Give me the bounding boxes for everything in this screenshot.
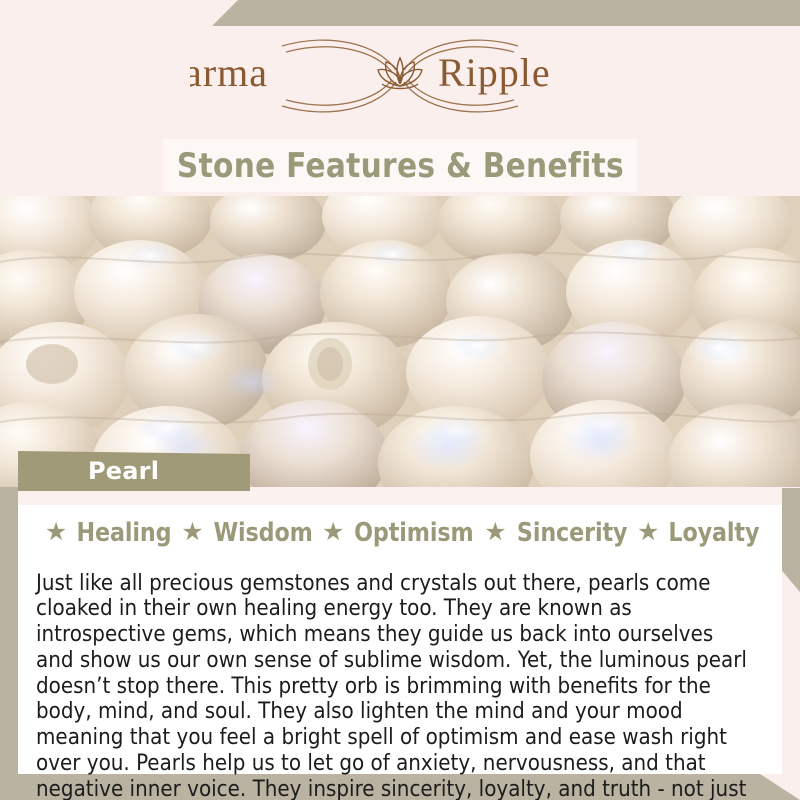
keyword-label: Wisdom xyxy=(213,518,312,548)
logo-word-karma: Karma xyxy=(190,50,268,95)
keyword-label: Optimism xyxy=(355,518,474,548)
star-icon: ★ xyxy=(45,520,67,545)
keyword-item-sincerity: ★ Sincerity xyxy=(477,518,630,548)
keyword-list: ★ Healing ★ Wisdom ★ Optimism ★ Sincerit… xyxy=(18,518,782,548)
keyword-item-loyalty: ★ Loyalty xyxy=(630,518,762,548)
corner-accent-top xyxy=(212,0,800,26)
keyword-label: Sincerity xyxy=(517,518,628,548)
pearl-photo xyxy=(0,196,800,487)
keyword-item-optimism: ★ Optimism xyxy=(315,518,477,548)
keyword-label: Loyalty xyxy=(669,518,760,548)
stone-info-card: Karma Ripple Stone Features & Benefits xyxy=(0,0,800,800)
logo-word-ripple: Ripple xyxy=(438,50,551,95)
stone-name-label: Pearl xyxy=(18,451,250,491)
pearl-photo-svg xyxy=(0,196,800,487)
stone-name-text: Pearl xyxy=(88,457,159,485)
keyword-item-wisdom: ★ Wisdom xyxy=(174,518,315,548)
stone-description-text: Just like all precious gemstones and cry… xyxy=(36,571,755,800)
page-title: Stone Features & Benefits xyxy=(176,146,623,186)
karma-ripple-logo-svg: Karma Ripple xyxy=(190,34,610,118)
star-icon: ★ xyxy=(484,520,506,545)
lotus-icon xyxy=(378,58,422,89)
keyword-item-healing: ★ Healing xyxy=(38,518,174,548)
star-icon: ★ xyxy=(637,520,659,545)
keyword-label: Healing xyxy=(77,518,172,548)
section-title-banner: Stone Features & Benefits xyxy=(163,139,637,192)
star-icon: ★ xyxy=(181,520,203,545)
star-icon: ★ xyxy=(322,520,344,545)
brand-logo: Karma Ripple xyxy=(0,34,800,118)
